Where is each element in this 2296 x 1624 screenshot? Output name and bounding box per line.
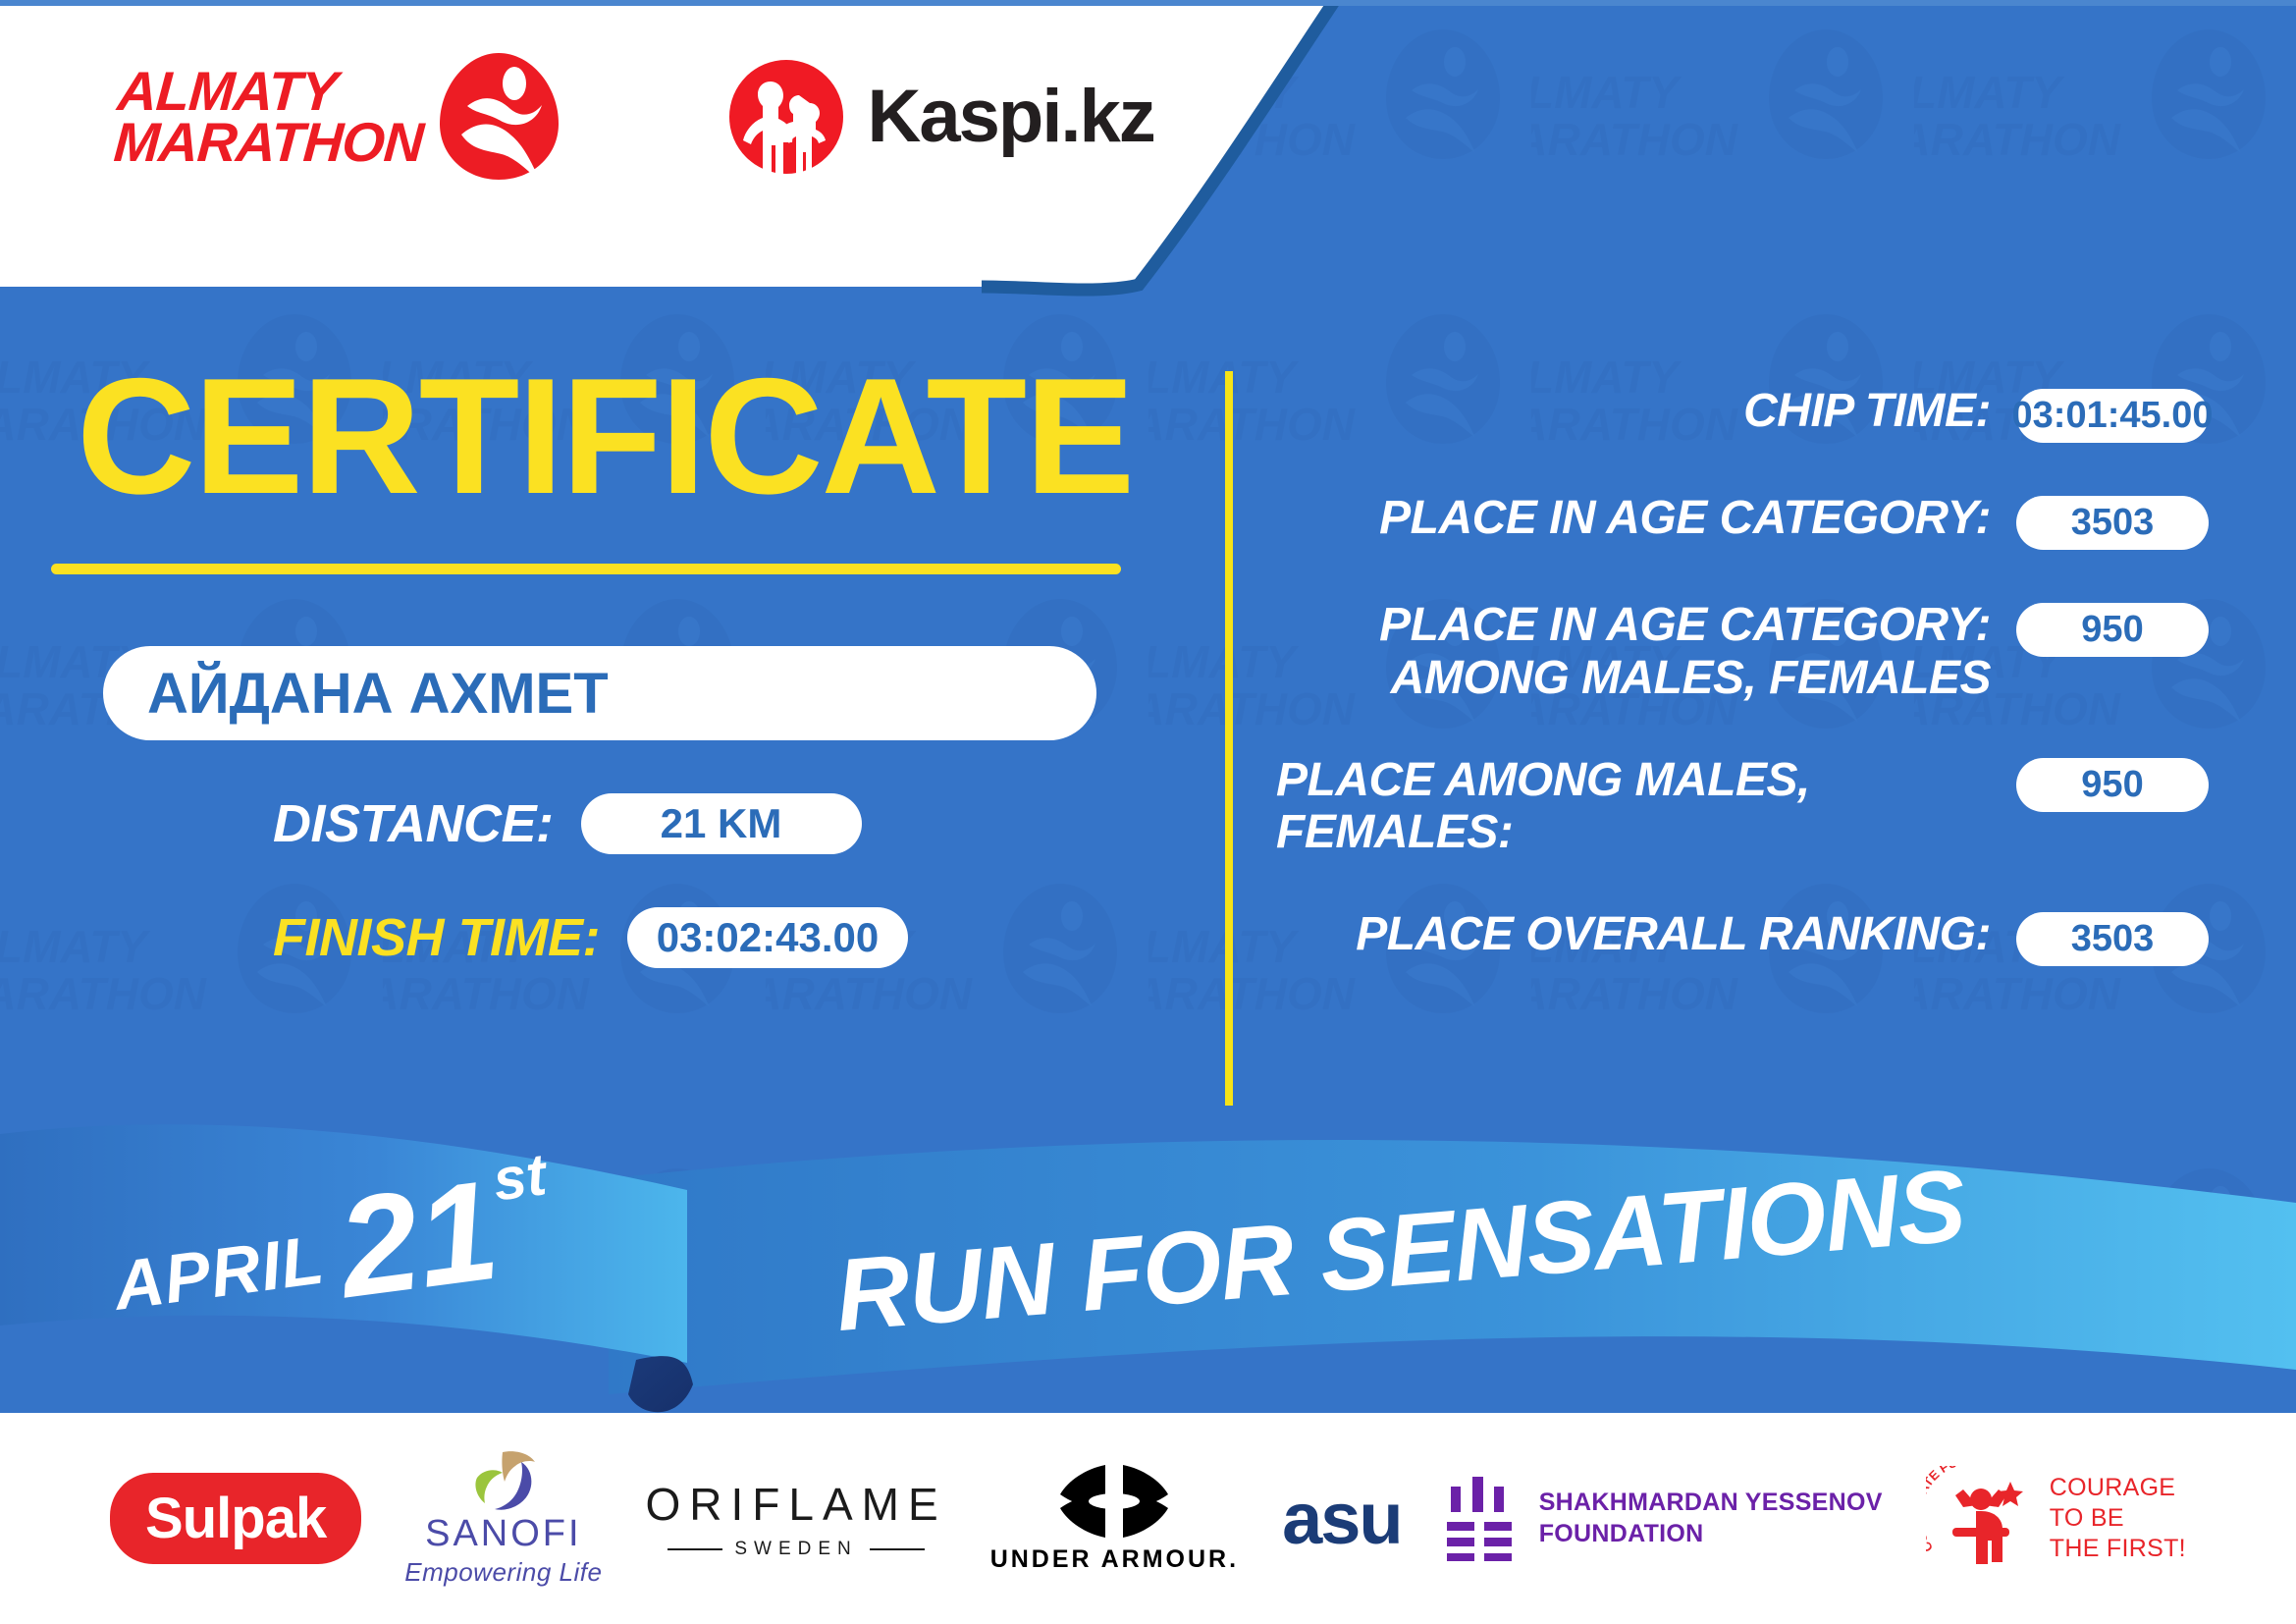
chip-time-value: 03:01:45.00 [2012,395,2214,437]
kaspi-logo: Kaspi.kz [727,58,1153,176]
place-age-category-pill: 3503 [2016,496,2209,550]
distance-pill: 21 KM [581,793,862,854]
corporate-fund-icon: CORPORATE FUND [1926,1466,2036,1572]
under-armour-wordmark: UNDER ARMOUR. [990,1545,1239,1574]
sanofi-tagline: Empowering Life [404,1557,602,1588]
event-day-suffix: st [489,1140,550,1214]
almaty-marathon-wordmark: ALMATY MARATHON [112,66,428,167]
kaspi-wordmark: Kaspi.kz [867,74,1153,159]
finish-time-label: FINISH TIME: [273,907,600,968]
place-overall-value: 3503 [2071,918,2155,960]
finish-time-row: FINISH TIME: 03:02:43.00 [273,907,1207,968]
results-column: CHIP TIME: 03:01:45.00 PLACE IN AGE CATE… [1276,385,2209,1015]
sponsor-sanofi: SANOFI Empowering Life [404,1450,602,1588]
chip-time-label: CHIP TIME: [1276,385,1991,438]
place-among-males-females-value: 950 [2081,764,2143,806]
place-age-category-value: 3503 [2071,502,2155,544]
sponsor-oriflame: ORIFLAME SWEDEN [645,1478,946,1560]
yessenov-line1: SHAKHMARDAN YESSENOV [1539,1489,1883,1516]
finish-time-value: 03:02:43.00 [657,914,880,961]
place-overall-label: PLACE OVERALL RANKING: [1276,908,1991,961]
result-row-place-age-category-among: PLACE IN AGE CATEGORY: AMONG MALES, FEMA… [1276,599,2209,705]
participant-name-value: АЙДАНА АХМЕТ [147,661,609,727]
logo-row: ALMATY MARATHON Kaspi.kz [116,51,1154,182]
sanofi-mark-icon [467,1450,540,1511]
almaty-marathon-logo: ALMATY MARATHON [116,51,561,182]
sponsor-under-armour: UNDER ARMOUR. [990,1463,1239,1574]
sponsor-bar: Sulpak SANOFI Empowering Life ORIFLAME S… [0,1413,2296,1624]
oriflame-rule-left [667,1548,722,1550]
place-age-category-among-value: 950 [2081,609,2143,651]
sulpak-wordmark: Sulpak [145,1486,326,1551]
sponsor-yessenov-foundation: SHAKHMARDAN YESSENOV FOUNDATION [1445,1477,1883,1561]
result-row-place-overall: PLACE OVERALL RANKING: 3503 [1276,908,2209,966]
corporate-fund-arc-text: CORPORATE FUND [1926,1466,1977,1555]
place-overall-pill: 3503 [2016,912,2209,966]
place-age-category-among-pill: 950 [2016,603,2209,657]
place-age-category-label: PLACE IN AGE CATEGORY: [1276,492,1991,545]
oriflame-country: SWEDEN [734,1539,857,1560]
almaty-marathon-line2: MARATHON [112,117,424,168]
sponsor-asu: asu [1282,1477,1402,1560]
certificate-page: ALMATY MARATHON ALMATY MARATHON [0,0,2296,1624]
place-among-males-females-label: PLACE AMONG MALES, FEMALES: [1276,754,1991,860]
oriflame-rule-right [870,1548,925,1550]
title-underline [51,564,1121,574]
page-title: CERTIFICATE [77,353,1207,518]
place-among-males-females-pill: 950 [2016,758,2209,812]
result-row-place-age-category: PLACE IN AGE CATEGORY: 3503 [1276,492,2209,550]
kaspi-people-icon [727,58,845,176]
corporate-fund-line2: TO BE [2050,1504,2124,1532]
yessenov-line2: FOUNDATION [1539,1520,1704,1547]
left-column: CERTIFICATE АЙДАНА АХМЕТ DISTANCE: 21 KM… [0,353,1207,968]
result-row-place-among-males-females: PLACE AMONG MALES, FEMALES: 950 [1276,754,2209,860]
yessenov-mark-icon [1445,1477,1518,1561]
almaty-marathon-line1: ALMATY [116,66,428,117]
corporate-fund-line3: THE FIRST! [2050,1535,2186,1562]
distance-value: 21 KM [661,800,782,847]
svg-text:CORPORATE FUND: CORPORATE FUND [1926,1466,1977,1555]
asu-wordmark: asu [1282,1477,1402,1560]
corporate-fund-line1: COURAGE [2050,1474,2176,1501]
distance-label: DISTANCE: [273,793,554,854]
sponsor-corporate-fund: CORPORATE FUND COURAGE TO BE THE FIRST! [1926,1466,2186,1572]
chip-time-pill: 03:01:45.00 [2016,389,2209,443]
corporate-fund-slogan: COURAGE TO BE THE FIRST! [2050,1473,2186,1565]
result-row-chip-time: CHIP TIME: 03:01:45.00 [1276,385,2209,443]
distance-row: DISTANCE: 21 KM [273,793,1207,854]
yessenov-wordmark: SHAKHMARDAN YESSENOV FOUNDATION [1539,1488,1883,1549]
sponsor-sulpak: Sulpak [110,1473,361,1564]
vertical-divider [1225,371,1233,1106]
event-day: 21 [333,1171,504,1307]
finish-time-pill: 03:02:43.00 [627,907,908,968]
participant-name-field: АЙДАНА АХМЕТ [103,646,1096,740]
place-age-category-among-label: PLACE IN AGE CATEGORY: AMONG MALES, FEMA… [1276,599,1991,705]
under-armour-icon [1056,1463,1172,1540]
oriflame-wordmark: ORIFLAME [645,1478,946,1531]
runner-drop-icon [438,51,561,182]
sanofi-wordmark: SANOFI [425,1513,581,1555]
oriflame-subline: SWEDEN [667,1539,924,1560]
event-month: APRIL [109,1220,329,1326]
